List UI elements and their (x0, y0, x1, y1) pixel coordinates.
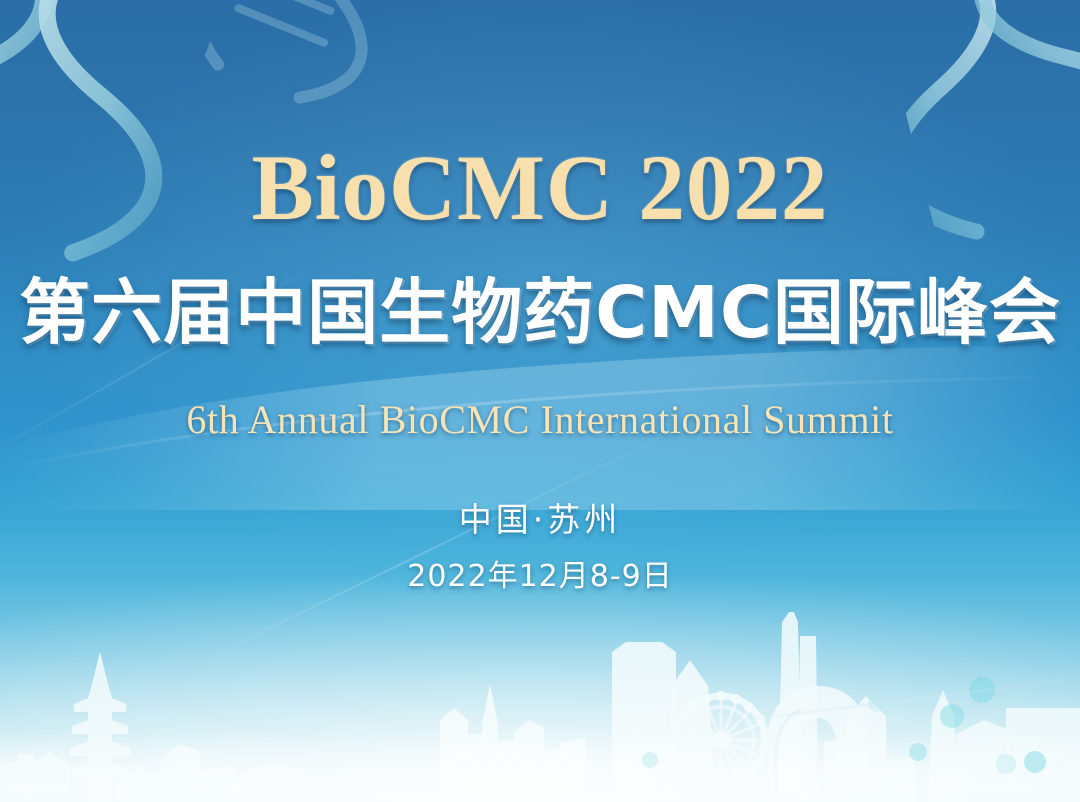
event-date: 2022年12月8-9日 (0, 562, 1080, 592)
title-chinese: 第六届中国生物药CMC国际峰会 (0, 277, 1080, 348)
conference-poster: BioCMC 2022 第六届中国生物药CMC国际峰会 6th Annual B… (0, 0, 1080, 802)
subtitle-english: 6th Annual BioCMC International Summit (0, 400, 1080, 440)
page-title: BioCMC 2022 (0, 142, 1080, 235)
event-location: 中国·苏州 (0, 503, 1080, 536)
